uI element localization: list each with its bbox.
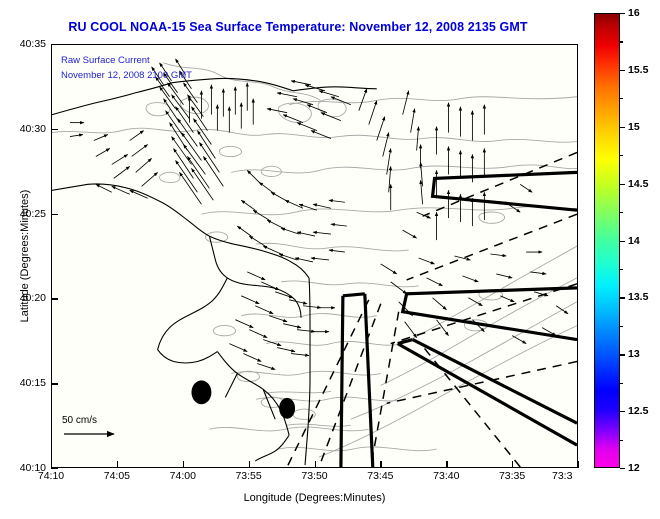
colorbar-tick: [620, 241, 625, 242]
y-tick: [51, 298, 58, 299]
colorbar-tick: [620, 468, 625, 469]
colorbar-minor-tick: [620, 41, 623, 42]
colorbar-tick: [620, 411, 625, 412]
colorbar-tick: [620, 13, 625, 14]
map-plot-area: Raw Surface Current November 12, 2008 21…: [51, 44, 578, 468]
x-tick-label: 74:05: [87, 470, 147, 482]
y-tick-label: 40:15: [0, 377, 46, 389]
colorbar: 16 15.5 15 14.5 14 13.5 13 12.5 12: [594, 13, 620, 468]
station-markers: [191, 380, 295, 418]
colorbar-label: 15: [628, 121, 640, 133]
colorbar-minor-tick: [620, 212, 623, 213]
figure-title: RU COOL NOAA-15 Sea Surface Temperature:…: [0, 20, 596, 34]
colorbar-tick: [620, 297, 625, 298]
colorbar-minor-tick: [620, 155, 623, 156]
station-marker-2: [279, 398, 295, 419]
x-axis-title: Longitude (Degrees:Minutes): [51, 492, 578, 504]
colorbar-minor-tick: [620, 326, 623, 327]
colorbar-label: 14: [628, 235, 640, 247]
x-tick: [315, 461, 316, 468]
x-tick: [117, 461, 118, 468]
x-tick-label: 74:00: [153, 470, 213, 482]
x-tick-label: 73:3: [552, 470, 582, 482]
x-tick-label: 74:10: [21, 470, 81, 482]
colorbar-tick: [620, 70, 625, 71]
x-tick-label: 73:45: [350, 470, 410, 482]
colorbar-label: 14.5: [628, 178, 648, 190]
y-tick: [51, 129, 58, 130]
y-tick: [51, 44, 58, 45]
y-axis-title: Latitude (Degrees:Minutes): [19, 146, 31, 366]
coastline: [52, 78, 377, 465]
colorbar-minor-tick: [620, 440, 623, 441]
scale-bar: 50 cm/s: [62, 415, 148, 445]
x-tick-label: 73:55: [219, 470, 279, 482]
map-canvas: [52, 45, 577, 467]
scale-bar-label: 50 cm/s: [62, 415, 148, 426]
arrow-right-icon: [62, 428, 132, 440]
colorbar-label: 12: [628, 462, 640, 474]
colorbar-label: 15.5: [628, 64, 648, 76]
y-tick-label: 40:35: [0, 38, 46, 50]
colorbar-minor-tick: [620, 269, 623, 270]
colorbar-tick: [620, 184, 625, 185]
colorbar-tick: [620, 127, 625, 128]
colorbar-gradient: [594, 13, 620, 468]
y-tick: [51, 214, 58, 215]
radar-coverage-wedges: [341, 172, 577, 467]
station-marker-1: [191, 380, 211, 404]
colorbar-minor-tick: [620, 98, 623, 99]
x-tick-label: 73:50: [285, 470, 345, 482]
x-tick: [51, 461, 52, 468]
x-tick: [249, 461, 250, 468]
x-tick: [183, 461, 184, 468]
x-tick: [446, 461, 447, 468]
sst-map-figure: RU COOL NOAA-15 Sea Surface Temperature:…: [0, 0, 660, 519]
colorbar-label: 13: [628, 348, 640, 360]
x-tick: [380, 461, 381, 468]
colorbar-label: 12.5: [628, 405, 648, 417]
y-tick: [51, 383, 58, 384]
x-tick: [512, 461, 513, 468]
x-tick: [578, 461, 579, 468]
x-tick-label: 73:35: [482, 470, 542, 482]
colorbar-tick: [620, 354, 625, 355]
bathymetry-contours: [52, 63, 577, 457]
colorbar-minor-tick: [620, 383, 623, 384]
x-tick-label: 73:40: [416, 470, 476, 482]
y-tick-label: 40:30: [0, 123, 46, 135]
colorbar-label: 13.5: [628, 291, 648, 303]
colorbar-label: 16: [628, 7, 640, 19]
